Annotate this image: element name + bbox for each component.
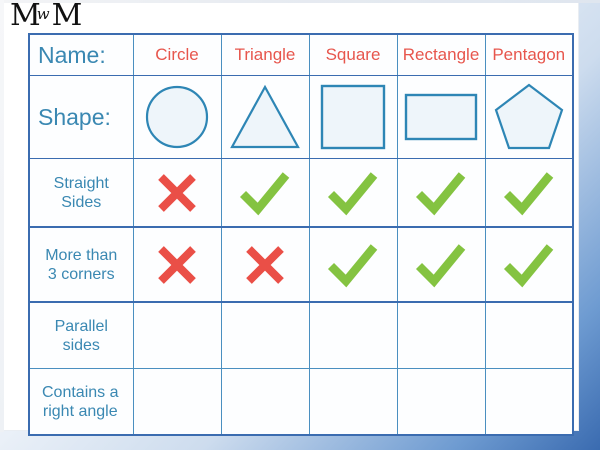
shape-cell-pentagon [485, 76, 573, 159]
shape-cell-rectangle [397, 76, 485, 159]
row-header-name: Name: [29, 34, 133, 76]
row-label-parallel-sides: Parallel sides [52, 315, 111, 357]
row-label-straight-sides: Straight Sides [51, 172, 112, 214]
check-icon [327, 242, 379, 288]
shape-name-pentagon: Pentagon [491, 42, 566, 68]
cell-corners-square[interactable] [309, 227, 397, 302]
cell-corners-pentagon[interactable] [485, 227, 573, 302]
cross-icon [154, 170, 200, 216]
row-header-contains-right-angle: Contains a right angle [29, 369, 133, 436]
shape-cell-circle [133, 76, 221, 159]
cross-icon [242, 242, 288, 288]
watermark-logo: MwM [10, 1, 80, 31]
cell-parallel-square[interactable] [309, 302, 397, 369]
cell-corners-rectangle[interactable] [397, 227, 485, 302]
cell-rightangle-square[interactable] [309, 369, 397, 436]
left-edge-strip [0, 0, 4, 432]
row-header-parallel-sides: Parallel sides [29, 302, 133, 369]
check-icon [503, 170, 555, 216]
shape-cell-triangle [221, 76, 309, 159]
cell-parallel-circle[interactable] [133, 302, 221, 369]
check-icon [239, 170, 291, 216]
cell-corners-circle[interactable] [133, 227, 221, 302]
triangle-icon [229, 84, 301, 150]
row-label-contains-right-angle: Contains a right angle [41, 381, 122, 423]
check-icon [415, 170, 467, 216]
header-cell-pentagon: Pentagon [485, 34, 573, 76]
table-row-contains-right-angle: Contains a right angle [29, 369, 573, 436]
pentagon-icon [494, 83, 564, 151]
logo-letter-mid: w [37, 5, 50, 23]
table-row-parallel-sides: Parallel sides [29, 302, 573, 369]
cell-rightangle-circle[interactable] [133, 369, 221, 436]
header-cell-triangle: Triangle [221, 34, 309, 76]
logo-letter-left: M [10, 0, 39, 33]
header-cell-square: Square [309, 34, 397, 76]
cell-rightangle-rectangle[interactable] [397, 369, 485, 436]
shape-cell-square [309, 76, 397, 159]
cell-straight-triangle[interactable] [221, 159, 309, 228]
square-icon [320, 84, 386, 150]
cell-parallel-pentagon[interactable] [485, 302, 573, 369]
cell-straight-circle[interactable] [133, 159, 221, 228]
shape-name-circle: Circle [154, 42, 199, 68]
check-icon [327, 170, 379, 216]
cell-straight-pentagon[interactable] [485, 159, 573, 228]
shape-properties-table: Name: Circle Triangle Square Rectangle P… [28, 33, 574, 436]
row-header-shape: Shape: [29, 76, 133, 159]
circle-icon [144, 84, 210, 150]
shape-name-triangle: Triangle [234, 42, 297, 68]
check-icon [503, 242, 555, 288]
rectangle-icon [404, 93, 478, 141]
row-label-shape: Shape: [30, 104, 133, 130]
shape-name-rectangle: Rectangle [402, 42, 481, 68]
table-row-shape: Shape: [29, 76, 573, 159]
row-header-straight-sides: Straight Sides [29, 159, 133, 228]
row-header-more-than-3-corners: More than 3 corners [29, 227, 133, 302]
cell-rightangle-pentagon[interactable] [485, 369, 573, 436]
cell-corners-triangle[interactable] [221, 227, 309, 302]
cell-straight-square[interactable] [309, 159, 397, 228]
cell-straight-rectangle[interactable] [397, 159, 485, 228]
top-edge-strip [0, 0, 600, 3]
check-icon [415, 242, 467, 288]
logo-letter-right: M [52, 0, 81, 33]
table-row-name: Name: Circle Triangle Square Rectangle P… [29, 34, 573, 76]
cell-rightangle-triangle[interactable] [221, 369, 309, 436]
row-label-name: Name: [30, 42, 133, 68]
header-cell-rectangle: Rectangle [397, 34, 485, 76]
table-row-straight-sides: Straight Sides [29, 159, 573, 228]
header-cell-circle: Circle [133, 34, 221, 76]
cell-parallel-triangle[interactable] [221, 302, 309, 369]
cross-icon [154, 242, 200, 288]
shape-name-square: Square [325, 42, 382, 68]
cell-parallel-rectangle[interactable] [397, 302, 485, 369]
row-label-more-than-3-corners: More than 3 corners [42, 244, 120, 286]
slide-frame: MwM Name: Circle Triangle Square [0, 0, 600, 450]
table-row-more-than-3-corners: More than 3 corners [29, 227, 573, 302]
